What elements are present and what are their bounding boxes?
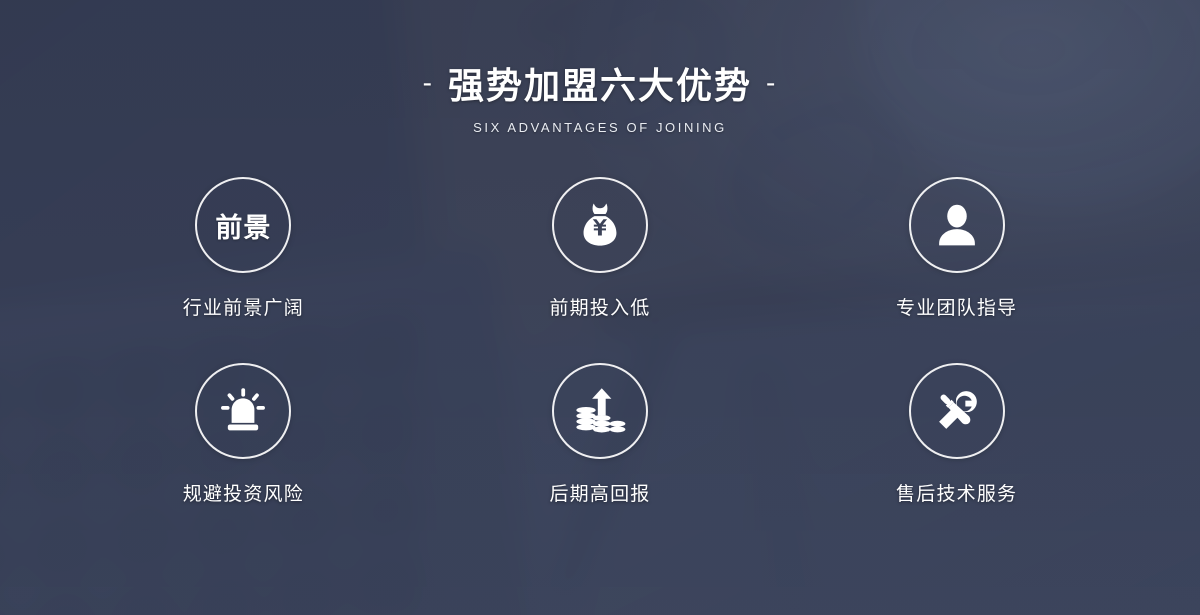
banner-header: -强势加盟六大优势- SIX ADVANTAGES OF JOINING [0,0,1200,135]
alarm-siren-circle [195,363,291,459]
advantage-item-prospect[interactable]: 前景 行业前景广阔 [65,177,422,363]
title-dash-right: - [766,69,777,97]
coins-arrow-circle [552,363,648,459]
advantage-item-avoid-risk[interactable]: 规避投资风险 [65,363,422,549]
page-title: -强势加盟六大优势- [0,68,1200,104]
advantage-label: 规避投资风险 [183,479,304,506]
advantages-banner: -强势加盟六大优势- SIX ADVANTAGES OF JOINING 前景 … [0,0,1200,615]
prospect-icon-label: 前景 [215,206,271,245]
banner-content: -强势加盟六大优势- SIX ADVANTAGES OF JOINING 前景 … [0,0,1200,615]
title-text: 强势加盟六大优势 [448,65,752,106]
title-dash-left: - [423,69,434,97]
user-person-icon [931,199,983,251]
money-bag-circle [552,177,648,273]
advantage-item-professional-team[interactable]: 专业团队指导 [778,177,1135,363]
money-bag-icon [573,198,627,252]
prospect-text-icon: 前景 [195,177,291,273]
advantage-item-after-sales[interactable]: 售后技术服务 [778,363,1135,549]
wrench-screwdriver-circle [909,363,1005,459]
user-person-circle [909,177,1005,273]
wrench-screwdriver-icon [930,384,984,438]
advantage-item-low-investment[interactable]: 前期投入低 [422,177,779,363]
advantage-label: 专业团队指导 [896,293,1017,320]
advantage-label: 售后技术服务 [896,479,1017,506]
advantage-label: 后期高回报 [549,479,650,506]
advantage-label: 行业前景广阔 [183,293,304,320]
page-subtitle: SIX ADVANTAGES OF JOINING [0,120,1200,135]
alarm-siren-icon [216,384,270,438]
coins-arrow-up-icon [572,383,628,439]
advantages-grid: 前景 行业前景广阔 前期投入低 [65,177,1135,549]
advantage-item-high-return[interactable]: 后期高回报 [422,363,779,549]
advantage-label: 前期投入低 [549,293,650,320]
